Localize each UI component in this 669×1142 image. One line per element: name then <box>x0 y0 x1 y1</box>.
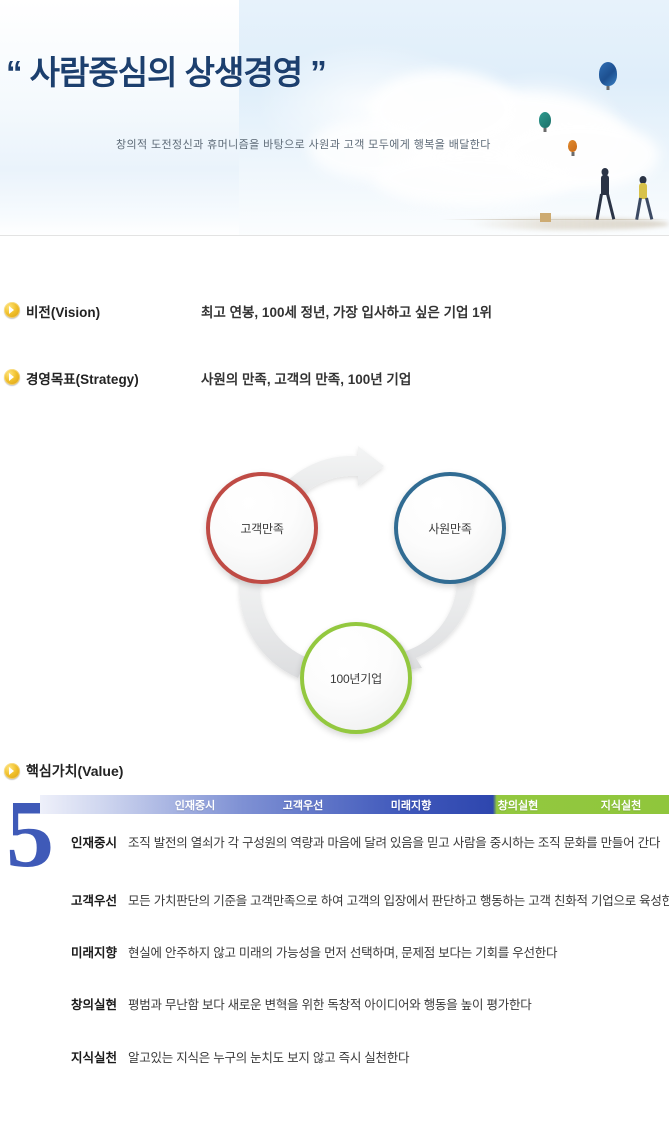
bullet-arrow-icon <box>4 369 20 385</box>
hero-banner: “ 사람중심의 상생경영 ” 창의적 도전정신과 휴머니즘을 바탕으로 사원과 … <box>0 0 669 236</box>
vision-row: 비전(Vision) 최고 연봉, 100세 정년, 가장 입사하고 싶은 기업… <box>0 300 669 342</box>
cycle-node-employee-satisfaction: 사원만족 <box>394 472 506 584</box>
core-value-heading: 핵심가치(Value) <box>0 760 669 784</box>
value-item-desc: 알고있는 지식은 누구의 눈치도 보지 않고 즉시 실천한다 <box>128 1047 409 1066</box>
value-item: 고객우선 모든 가치판단의 기준을 고객만족으로 하여 고객의 입장에서 판단하… <box>0 890 669 942</box>
bullet-arrow-icon <box>4 302 20 318</box>
value-item-desc: 평범과 무난함 보다 새로운 변혁을 위한 독창적 아이디어와 행동을 높이 평… <box>128 994 531 1013</box>
cycle-node-label: 고객만족 <box>240 520 283 537</box>
value-item-name: 인재중시 <box>55 832 117 851</box>
value-item-name: 미래지향 <box>55 942 117 961</box>
vision-label: 비전(Vision) <box>26 301 100 321</box>
bullet-arrow-icon <box>4 763 20 779</box>
value-item-name: 고객우선 <box>55 890 117 909</box>
value-bar-label-4: 창의실현 <box>463 797 573 813</box>
value-item-name: 지식실천 <box>55 1047 117 1066</box>
value-bar-label-1: 인재중시 <box>140 797 250 813</box>
page-subtitle: 창의적 도전정신과 휴머니즘을 바탕으로 사원과 고객 모두에게 행복을 배달한… <box>116 136 491 152</box>
value-bar-label-3: 미래지향 <box>356 797 466 813</box>
cloud-shape <box>374 150 574 206</box>
cycle-node-century-company: 100년기업 <box>300 622 412 734</box>
cycle-node-customer-satisfaction: 고객만족 <box>206 472 318 584</box>
header-divider <box>0 235 669 236</box>
core-value-title: 핵심가치(Value) <box>26 761 123 781</box>
value-item: 미래지향 현실에 안주하지 않고 미래의 가능성을 먼저 선택하며, 문제점 보… <box>0 942 669 994</box>
vision-value: 최고 연봉, 100세 정년, 가장 입사하고 싶은 기업 1위 <box>201 301 492 321</box>
strategy-cycle-diagram: 고객만족 사원만족 100년기업 <box>178 440 538 740</box>
value-bar-label-5: 지식실천 <box>566 797 669 813</box>
value-item: 지식실천 알고있는 지식은 누구의 눈치도 보지 않고 즉시 실천한다 <box>0 1047 669 1099</box>
value-item-desc: 모든 가치판단의 기준을 고객만족으로 하여 고객의 입장에서 판단하고 행동하… <box>128 890 669 909</box>
value-item-name: 창의실현 <box>55 994 117 1013</box>
package-box-icon <box>540 213 551 222</box>
hot-air-balloon-icon <box>599 62 617 86</box>
strategy-value: 사원의 만족, 고객의 만족, 100년 기업 <box>201 368 411 388</box>
walking-person-icon <box>596 168 614 222</box>
walking-person-icon <box>635 176 651 222</box>
strategy-row: 경영목표(Strategy) 사원의 만족, 고객의 만족, 100년 기업 <box>0 367 669 409</box>
page-title: “ 사람중심의 상생경영 ” <box>6 46 326 94</box>
strategy-label: 경영목표(Strategy) <box>26 368 139 388</box>
value-item: 인재중시 조직 발전의 열쇠가 각 구성원의 역량과 마음에 달려 있음을 믿고… <box>0 832 669 890</box>
value-item-desc: 현실에 안주하지 않고 미래의 가능성을 먼저 선택하며, 문제점 보다는 기회… <box>128 942 557 961</box>
cycle-node-label: 사원만족 <box>428 520 471 537</box>
hot-air-balloon-icon <box>568 140 577 152</box>
core-value-bar: 인재중시 고객우선 미래지향 창의실현 지식실천 <box>40 795 669 814</box>
value-item: 창의실현 평범과 무난함 보다 새로운 변혁을 위한 독창적 아이디어와 행동을… <box>0 994 669 1047</box>
hot-air-balloon-icon <box>539 112 551 128</box>
value-item-desc: 조직 발전의 열쇠가 각 구성원의 역량과 마음에 달려 있음을 믿고 사람을 … <box>128 832 660 851</box>
value-bar-label-2: 고객우선 <box>248 797 358 813</box>
core-value-list: 인재중시 조직 발전의 열쇠가 각 구성원의 역량과 마음에 달려 있음을 믿고… <box>0 832 669 1099</box>
cycle-node-label: 100년기업 <box>330 670 382 687</box>
